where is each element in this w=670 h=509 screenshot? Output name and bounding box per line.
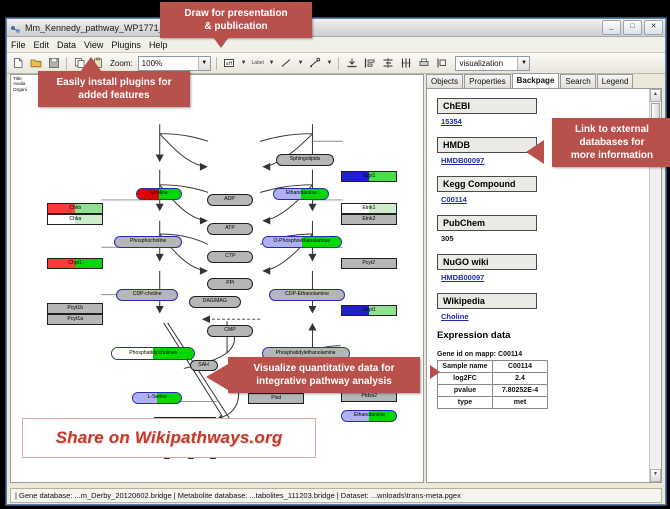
metabolite-node-o-phosphoethanolamine[interactable]: O-Phosphoethanolamine (262, 236, 342, 248)
align-left-icon[interactable] (362, 56, 377, 71)
metabolite-node-ppi[interactable]: PPi (207, 278, 253, 290)
status-bar: | Gene database: ...m_Derby_20120602.bri… (7, 487, 665, 504)
callout-plugins-line1: Easily install plugins foradded features (56, 77, 171, 101)
db-header-nugo-wiki: NuGO wiki (437, 254, 537, 270)
anchor-icon[interactable] (308, 56, 323, 71)
db-header-wikipedia: Wikipedia (437, 293, 537, 309)
node-label: Chka (69, 217, 81, 222)
metabolite-node-sphingolipids[interactable]: Sphingolipids (276, 154, 334, 166)
node-label: Phosphatidylcholines (129, 351, 177, 356)
minimize-button[interactable]: _ (602, 20, 621, 35)
node-label: O-Phosphoethanolamine (274, 239, 331, 244)
datanode-icon[interactable]: aH (222, 56, 237, 71)
share-text: Share on Wikipathways.org (56, 428, 283, 448)
table-row: typemet (438, 397, 548, 409)
db-header-pubchem: PubChem (437, 215, 537, 231)
metabolite-node-adp[interactable]: ADP (207, 194, 253, 206)
tab-backpage[interactable]: Backpage (512, 73, 560, 88)
scroll-down-icon[interactable]: ▼ (650, 469, 661, 482)
node-label: Phosphocholine (130, 239, 166, 244)
node-label: Pcyt2 (363, 261, 376, 266)
callout-plugins: Easily install plugins foradded features (38, 71, 190, 107)
menu-item-view[interactable]: View (84, 40, 103, 50)
node-label: Chkb (69, 206, 81, 211)
node-label: ADP (225, 197, 236, 202)
metabolite-node-cdp-ethanolamine[interactable]: CDP-Ethanolamine (269, 289, 345, 301)
canvas-info-title: Title: Availa Organi (13, 76, 27, 92)
svg-text:aH: aH (226, 61, 233, 67)
db-value-kegg-compound[interactable]: C00114 (441, 195, 649, 204)
expression-key: Sample name (438, 361, 493, 373)
maximize-button[interactable]: □ (623, 20, 642, 35)
status-text: | Gene database: ...m_Derby_20120602.bri… (10, 488, 662, 503)
order-icon[interactable] (434, 56, 449, 71)
toolbar-separator (338, 57, 339, 70)
new-file-icon[interactable] (10, 56, 25, 71)
node-label: Ethanolamine (285, 191, 316, 196)
node-label: Pcyt1a (67, 317, 83, 322)
tab-legend[interactable]: Legend (597, 74, 634, 88)
canvas-organism-label: Organi (13, 87, 27, 92)
print-icon[interactable] (416, 56, 431, 71)
gene-node-cept1[interactable]: Cept1 (341, 305, 397, 316)
node-label: L-Serine (147, 395, 166, 400)
menu-item-plugins[interactable]: Plugins (111, 40, 141, 50)
expression-key: log2FC (438, 373, 493, 385)
menu-item-data[interactable]: Data (57, 40, 76, 50)
metabolite-node-cdp-choline[interactable]: CDP-choline (116, 289, 178, 301)
gene-node-etnk1[interactable]: Etnk1 (341, 203, 397, 214)
menu-bar: File Edit Data View Plugins Help (7, 37, 665, 53)
expression-key: type (438, 397, 493, 409)
callout-links: Link to externaldatabases formore inform… (552, 118, 670, 167)
node-label: PPi (226, 281, 234, 286)
node-label: ATP (225, 226, 235, 231)
db-header-hmdb: HMDB (437, 137, 537, 153)
gene-node-pcyt1a[interactable]: Pcyt1a (47, 314, 103, 325)
gene-node-chkb[interactable]: Chkb (47, 203, 103, 214)
table-row: pvalue7.80252E-4 (438, 385, 548, 397)
db-value-wikipedia[interactable]: Choline (441, 312, 649, 321)
callout-draw-line1: Draw for presentation& publication (184, 8, 287, 32)
gene-node-pcyt2[interactable]: Pcyt2 (341, 258, 397, 269)
gene-node-chka[interactable]: Chka (47, 214, 103, 225)
node-label: Chpt1 (68, 261, 82, 266)
node-label: CTP (225, 254, 235, 259)
chevron-down-icon[interactable]: ▼ (198, 57, 210, 70)
node-label: DAG/MAG (203, 299, 227, 304)
node-label: Pcyt1b (67, 306, 83, 311)
chevron-down-icon[interactable]: ▼ (327, 60, 333, 66)
node-label: Phosphatidylethanolamine (276, 351, 336, 356)
node-label: Pisd (271, 396, 281, 401)
save-icon[interactable] (46, 56, 61, 71)
gene-node-pcyt1b[interactable]: Pcyt1b (47, 303, 103, 314)
gene-node-pisd[interactable]: Pisd (248, 393, 304, 404)
callout-visualize-arrow (206, 364, 228, 390)
metabolite-node-atp[interactable]: ATP (207, 223, 253, 235)
toolbar-separator (216, 57, 217, 70)
metabolite-node-phosphatidylcholines[interactable]: Phosphatidylcholines (111, 347, 195, 360)
line-icon[interactable] (279, 56, 294, 71)
callout-draw: Draw for presentation& publication (160, 2, 312, 38)
expression-value: C00114 (493, 361, 548, 373)
callout-share: Share on Wikipathways.org (22, 418, 316, 458)
table-row: Sample nameC00114 (438, 361, 548, 373)
metabolite-node-cmp[interactable]: CMP (207, 325, 253, 337)
close-button[interactable]: ✕ (644, 20, 663, 35)
node-label: Ptdss2 (361, 394, 377, 399)
metabolite-node-ctp[interactable]: CTP (207, 251, 253, 263)
chevron-down-icon[interactable]: ▼ (269, 60, 275, 66)
label-text: Label (252, 60, 264, 66)
metabolite-node-dag-mag[interactable]: DAG/MAG (189, 296, 241, 308)
visualization-value: visualization (459, 59, 503, 68)
node-label: Etnk1 (362, 206, 375, 211)
visualization-combobox[interactable]: visualization ▼ (455, 56, 530, 71)
zoom-combobox[interactable]: 100% ▼ (138, 56, 211, 71)
expression-value: 2.4 (493, 373, 548, 385)
db-value-nugo-wiki[interactable]: HMDB00097 (441, 273, 649, 282)
toolbar-separator (66, 57, 67, 70)
open-folder-icon[interactable] (28, 56, 43, 71)
callout-links-arrow (526, 140, 544, 164)
chevron-down-icon[interactable]: ▼ (298, 60, 304, 66)
callout-visualize: Visualize quantitative data forintegrati… (228, 357, 420, 393)
callout-expression-arrow (430, 365, 440, 379)
gene-node-etnk2[interactable]: Etnk2 (341, 214, 397, 225)
zoom-label: Zoom: (110, 59, 133, 68)
metabolite-node-l-serine-left[interactable]: L-Serine (132, 392, 182, 404)
db-header-kegg-compound: Kegg Compound (437, 176, 537, 192)
node-label: Cept1 (362, 308, 376, 313)
expression-value: 7.80252E-4 (493, 385, 548, 397)
tab-search[interactable]: Search (560, 74, 595, 88)
gene-node-chpt1[interactable]: Chpt1 (47, 258, 103, 269)
metabolite-node-ethanolamine-right[interactable]: Ethanolamine (341, 410, 397, 422)
expression-value: met (493, 397, 548, 409)
node-label: Ethanolamine (353, 413, 384, 418)
expression-data-heading: Expression data (437, 330, 649, 341)
node-label: Sgpl1 (362, 174, 375, 179)
node-label: Etnk2 (362, 217, 375, 222)
align-center-icon[interactable] (380, 56, 395, 71)
node-label: CDP-choline (133, 292, 162, 297)
title-bar: Mm_Kennedy_pathway_WP1771_45176.gpml _ □… (7, 19, 665, 37)
table-row: log2FC2.4 (438, 373, 548, 385)
metabolite-node-phosphocholine[interactable]: Phosphocholine (114, 236, 182, 248)
menu-item-help[interactable]: Help (149, 40, 168, 50)
node-label: CMP (224, 328, 235, 333)
label-icon[interactable]: Label (251, 56, 265, 71)
gene-node-sgpl1[interactable]: Sgpl1 (341, 171, 397, 182)
callout-visualize-line1: Visualize quantitative data forintegrati… (254, 363, 395, 387)
chevron-down-icon[interactable]: ▼ (517, 57, 529, 70)
distribute-icon[interactable] (398, 56, 413, 71)
expression-table: Sample nameC00114log2FC2.4pvalue7.80252E… (437, 360, 548, 409)
menu-item-edit[interactable]: Edit (34, 40, 50, 50)
callout-links-line1: Link to externaldatabases formore inform… (571, 124, 653, 161)
expression-key: pvalue (438, 385, 493, 397)
tab-properties[interactable]: Properties (464, 74, 510, 88)
side-panel-tabs[interactable]: ObjectsPropertiesBackpageSearchLegend (426, 74, 662, 88)
zoom-value: 100% (142, 59, 162, 68)
db-value-pubchem: 305 (441, 234, 649, 243)
menu-item-file[interactable]: File (11, 40, 26, 50)
app-icon (10, 22, 21, 33)
callout-draw-arrow (210, 33, 232, 48)
tab-objects[interactable]: Objects (426, 74, 463, 88)
scroll-up-icon[interactable]: ▲ (650, 89, 661, 102)
align-top-icon[interactable] (344, 56, 359, 71)
metabolite-node-ethanolamine-top[interactable]: Ethanolamine (273, 188, 329, 200)
node-label: CDP-Ethanolamine (285, 292, 329, 297)
gene-id-label: Gene id on mapp: C00114 (437, 351, 649, 358)
node-label: Sphingolipids (290, 157, 320, 162)
window-controls: _ □ ✕ (602, 20, 663, 35)
db-header-chebi: ChEBI (437, 98, 537, 114)
metabolite-node-choline-top[interactable]: Choline (136, 188, 182, 200)
node-label: Choline (150, 191, 167, 196)
callout-plugins-arrow (80, 57, 102, 72)
chevron-down-icon[interactable]: ▼ (241, 60, 247, 66)
